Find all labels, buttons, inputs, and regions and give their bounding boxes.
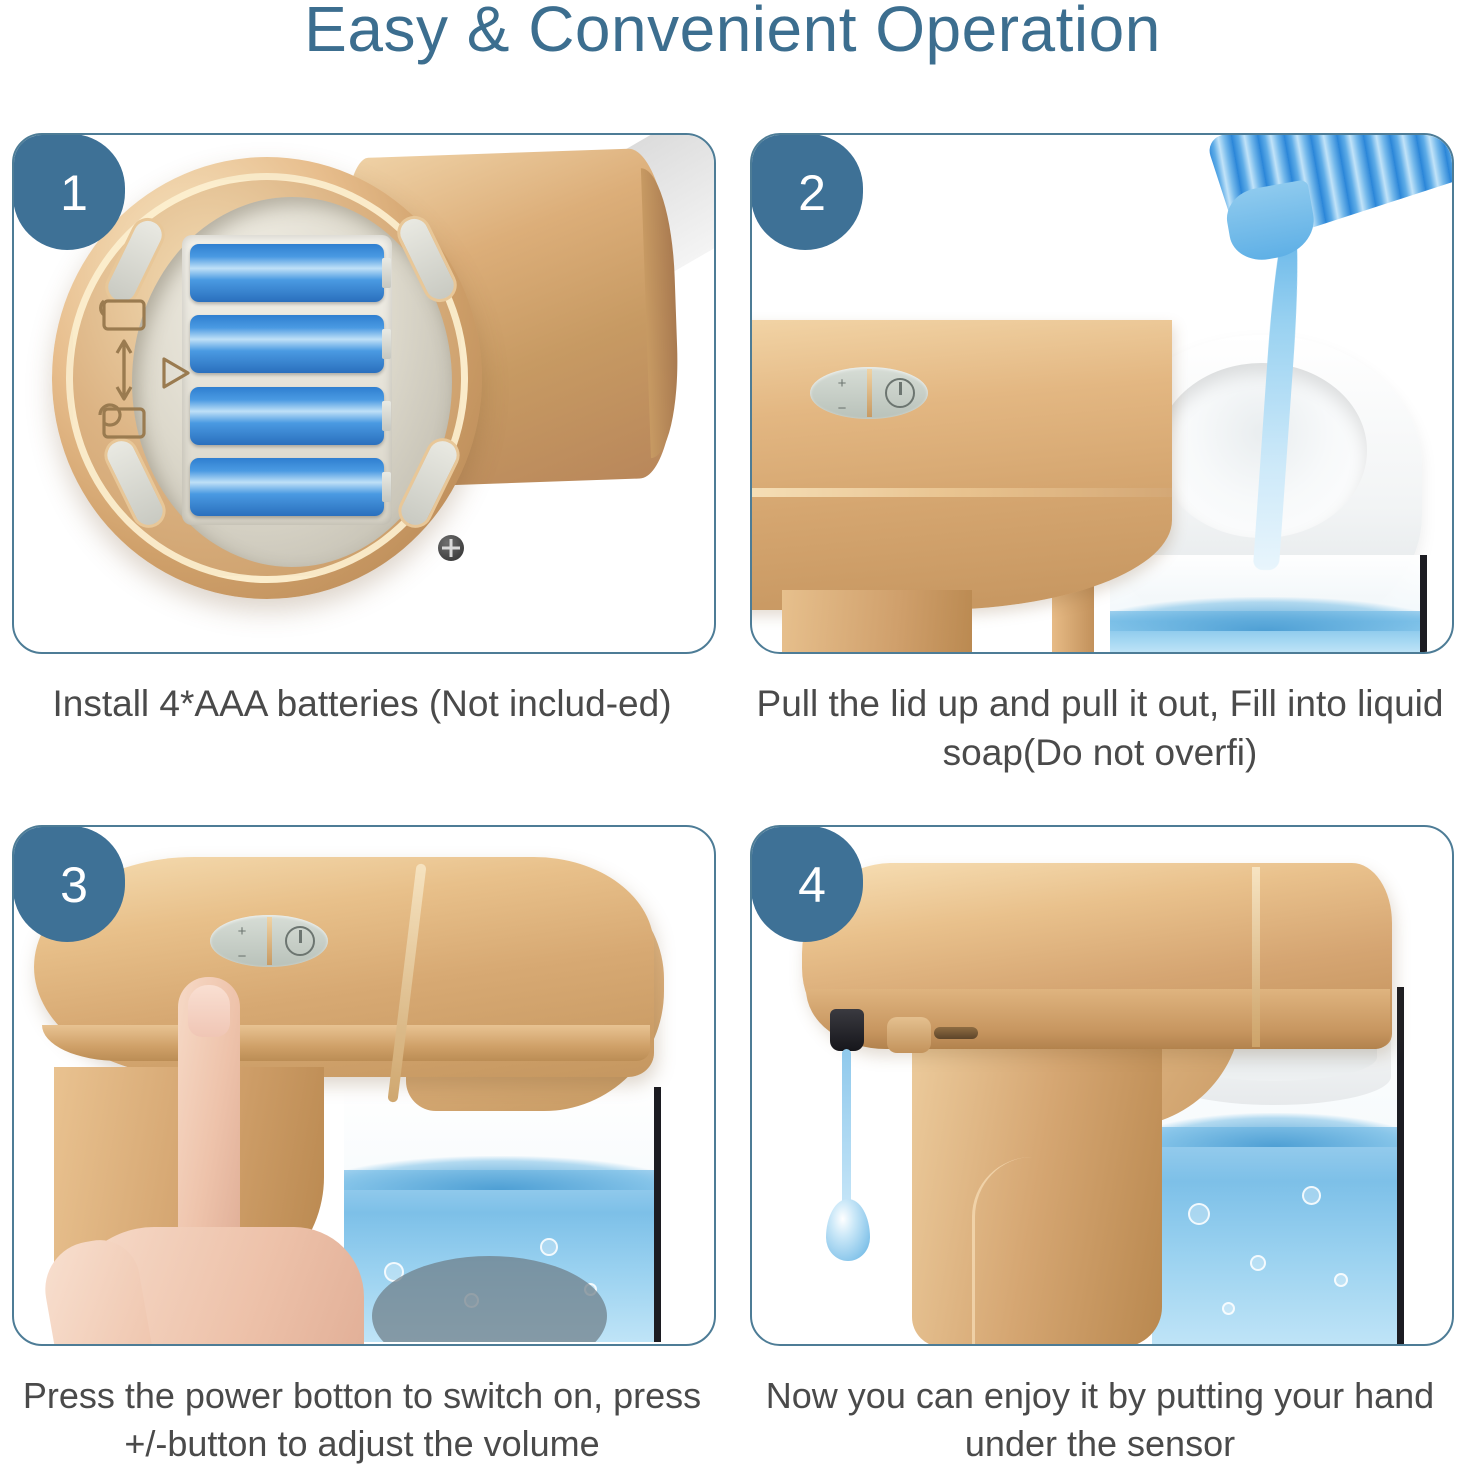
step-2-caption: Pull the lid up and pull it out, Fill in…	[750, 680, 1450, 778]
step-3-image-card: 3	[12, 825, 716, 1346]
control-pad[interactable]: + −	[210, 915, 328, 967]
volume-plus-label: +	[824, 376, 860, 391]
step-4-number: 4	[798, 860, 826, 910]
infographic-page: Easy & Convenient Operation 1	[0, 0, 1465, 1465]
step-2-badge: 2	[751, 134, 863, 250]
fingernail	[188, 985, 230, 1037]
pump-plate	[372, 1256, 607, 1342]
power-icon[interactable]	[285, 926, 315, 956]
control-pad[interactable]: + −	[810, 367, 928, 419]
volume-buttons[interactable]: + −	[224, 924, 260, 958]
droplet-bead	[826, 1199, 870, 1261]
step-4-caption: Now you can enjoy it by putting your han…	[750, 1372, 1450, 1467]
battery-cell	[190, 315, 384, 373]
step-2-number: 2	[798, 168, 826, 218]
volume-plus-label: +	[224, 924, 260, 939]
bubble	[1302, 1186, 1321, 1205]
step-1-number: 1	[60, 168, 88, 218]
soap-liquid	[1110, 611, 1420, 652]
step-3-caption: Press the power botton to switch on, pre…	[12, 1372, 712, 1467]
soap-liquid	[344, 1170, 654, 1342]
lid-seam	[1252, 867, 1260, 1047]
soap-tank	[344, 1087, 661, 1342]
battery-cell	[190, 458, 384, 516]
nozzle	[830, 1009, 864, 1051]
soap-liquid	[1152, 1127, 1397, 1344]
step-1-image-card: 1	[12, 133, 716, 654]
page-title: Easy & Convenient Operation	[0, 0, 1465, 66]
bubble	[1188, 1203, 1210, 1225]
soap-bottle	[1205, 135, 1452, 283]
step-1-caption: Install 4*AAA batteries (Not includ-ed)	[12, 680, 712, 729]
step-card-4: 4	[750, 825, 1462, 1467]
bubble	[1250, 1255, 1266, 1271]
droplet-thread	[842, 1049, 851, 1214]
steps-grid: 1	[0, 120, 1465, 1465]
screw-icon	[438, 535, 464, 561]
step-card-3: 3	[12, 825, 724, 1467]
sensor-housing	[887, 1017, 931, 1053]
step-4-image-card: 4	[750, 825, 1454, 1346]
bubble	[540, 1238, 558, 1256]
step-3-badge: 3	[13, 826, 125, 942]
soap-droplet	[834, 1049, 860, 1279]
battery-cell	[190, 387, 384, 445]
step-card-1: 1	[12, 133, 724, 729]
volume-buttons[interactable]: + −	[824, 376, 860, 410]
sensor-window	[934, 1027, 978, 1039]
pad-divider	[867, 369, 872, 417]
step-1-badge: 1	[13, 134, 125, 250]
volume-minus-label: −	[224, 949, 260, 964]
dispenser-stem	[912, 1027, 1162, 1344]
pad-divider	[267, 917, 272, 965]
triangle-marker-icon	[164, 359, 188, 387]
step-3-number: 3	[60, 860, 88, 910]
volume-minus-label: −	[824, 401, 860, 416]
power-icon[interactable]	[885, 378, 915, 408]
dispenser-lid	[752, 320, 1172, 610]
lock-open-icon	[104, 409, 144, 437]
step-4-badge: 4	[751, 826, 863, 942]
dispenser-stem	[782, 590, 972, 652]
step-card-2: 2 + −	[750, 133, 1462, 778]
hand-pressing-button	[54, 977, 384, 1344]
bubble	[1222, 1302, 1235, 1315]
step-2-image-card: 2 + −	[750, 133, 1454, 654]
bubble	[1334, 1273, 1348, 1287]
battery-cell	[190, 244, 384, 302]
lock-instruction-icons	[88, 285, 218, 465]
lock-closed-icon	[104, 301, 144, 329]
